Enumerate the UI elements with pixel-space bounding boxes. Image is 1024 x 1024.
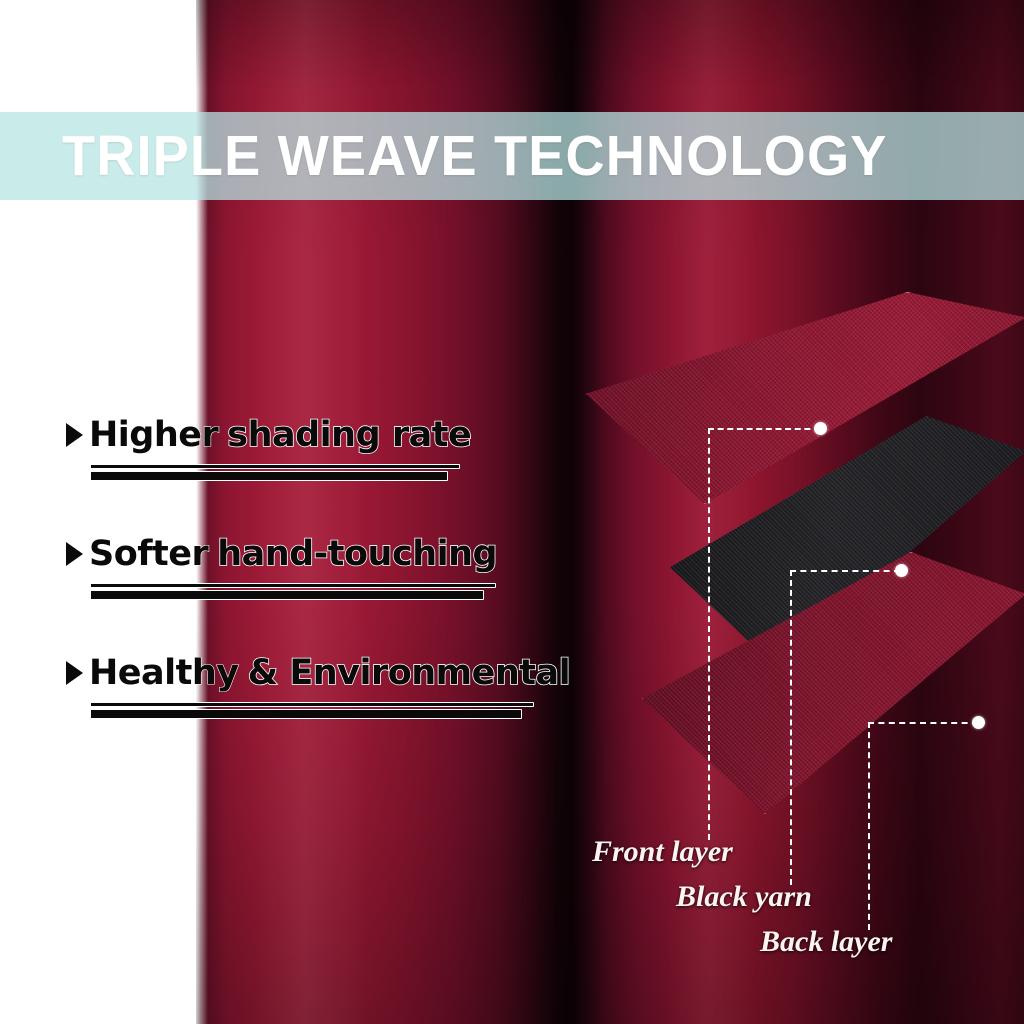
- fabric-layer-diagram: [586, 290, 1024, 850]
- feature-underline-group: [90, 464, 586, 481]
- feature-keyword: Softer: [89, 534, 208, 574]
- underline-thin-rule: [90, 583, 496, 588]
- underline-thin-rule: [90, 464, 460, 469]
- feature-list: Higher shading rate Softer hand-touching: [66, 412, 586, 769]
- feature-keyword: Healthy: [89, 653, 239, 693]
- triangle-bullet-icon: [66, 661, 83, 685]
- underline-thin-rule: [90, 702, 534, 707]
- headline-title: TRIPLE WEAVE TECHNOLOGY: [62, 128, 887, 185]
- caption-back-layer: Back layer: [760, 925, 892, 959]
- caption-front-layer: Front layer: [592, 835, 733, 869]
- underline-thick-rule: [90, 709, 522, 719]
- feature-item-higher-shading-rate: Higher shading rate: [66, 412, 586, 481]
- feature-description: & Environmental: [248, 653, 571, 693]
- feature-description: hand-touching: [217, 534, 497, 574]
- feature-underline-group: [90, 583, 586, 600]
- caption-black-yarn: Black yarn: [676, 880, 812, 914]
- feature-description: shading rate: [227, 415, 471, 455]
- triangle-bullet-icon: [66, 423, 83, 447]
- triangle-bullet-icon: [66, 542, 83, 566]
- feature-text-row: Higher shading rate: [66, 412, 586, 458]
- underline-thick-rule: [90, 471, 448, 481]
- feature-text-row: Softer hand-touching: [66, 531, 586, 577]
- feature-text-row: Healthy & Environmental: [66, 650, 586, 696]
- feature-item-healthy-environmental: Healthy & Environmental: [66, 650, 586, 719]
- feature-item-softer-hand-touching: Softer hand-touching: [66, 531, 586, 600]
- product-infographic: TRIPLE WEAVE TECHNOLOGY Higher shading r…: [0, 0, 1024, 1024]
- feature-underline-group: [90, 702, 586, 719]
- feature-keyword: Higher: [89, 415, 218, 455]
- headline-banner: TRIPLE WEAVE TECHNOLOGY: [0, 112, 1024, 200]
- underline-thick-rule: [90, 590, 484, 600]
